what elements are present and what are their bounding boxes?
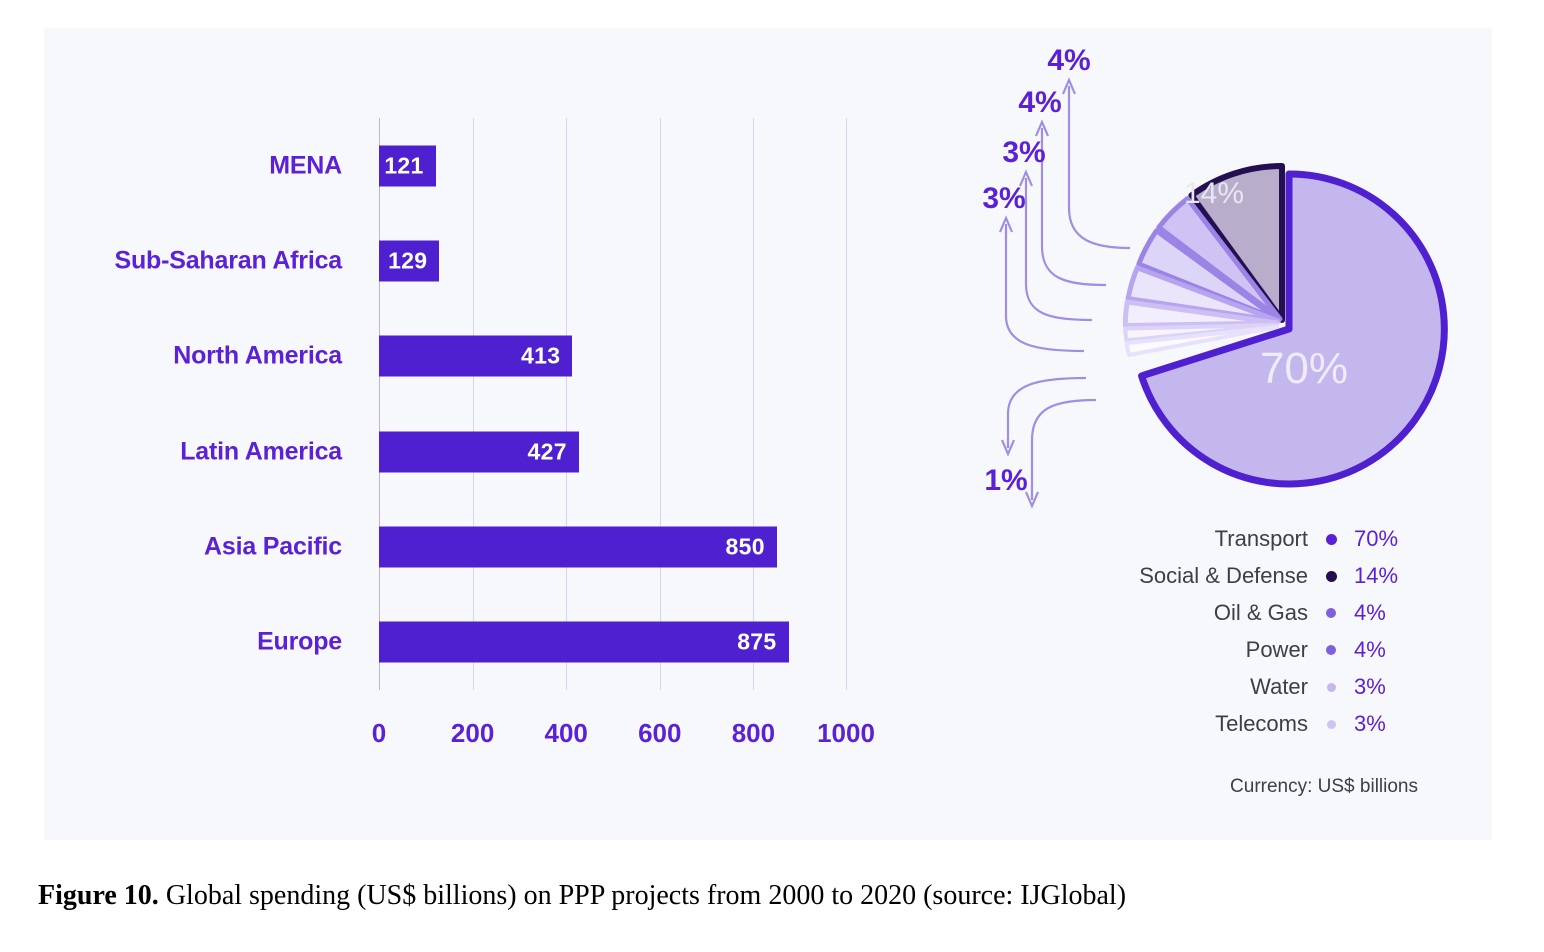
legend-percent: 70% — [1354, 526, 1418, 552]
pie-callout-label-1: 4% — [1047, 48, 1090, 77]
leader-line-4 — [1006, 224, 1084, 351]
bar-value-label: 129 — [388, 247, 439, 274]
bar-latin-america[interactable]: 427 — [379, 431, 579, 472]
legend-row-transport[interactable]: Transport 70% — [944, 526, 1418, 552]
bar-row: MENA 121 — [379, 118, 847, 213]
legend-row-water[interactable]: Water 3% — [944, 674, 1418, 700]
legend-swatch-cell — [1308, 720, 1354, 729]
figure-caption-label: Figure 10. — [38, 880, 159, 911]
bar-value-label: 875 — [737, 629, 788, 656]
legend-percent: 3% — [1354, 711, 1418, 737]
bar-mena[interactable]: 121 — [379, 145, 436, 186]
legend-dot-icon — [1326, 645, 1336, 655]
pie-chart: 70% 14% — [944, 28, 1492, 840]
legend-dot-icon — [1326, 571, 1337, 582]
legend-dot-icon — [1326, 534, 1337, 545]
pie-svg: 70% 14% — [944, 48, 1492, 518]
bar-row: North America 413 — [379, 309, 847, 404]
bar-row: Asia Pacific 850 — [379, 499, 847, 594]
x-tick-400: 400 — [544, 718, 587, 749]
figure-panel: MENA 121 Sub-Saharan Africa 129 North Am… — [44, 28, 1492, 840]
figure-caption-text: Global spending (US$ billions) on PPP pr… — [159, 880, 1126, 911]
bar-category-label: North America — [173, 342, 342, 371]
legend-swatch-cell — [1308, 534, 1354, 545]
x-tick-0: 0 — [372, 718, 386, 749]
bar-value-label: 121 — [384, 152, 435, 179]
legend-dot-icon — [1327, 720, 1336, 729]
x-tick-600: 600 — [638, 718, 681, 749]
legend-swatch-cell — [1308, 608, 1354, 618]
bar-sub-saharan-africa[interactable]: 129 — [379, 240, 439, 281]
pie-inside-label-14: 14% — [1184, 177, 1244, 210]
legend-row-social-defense[interactable]: Social & Defense 14% — [944, 563, 1418, 589]
legend-percent: 14% — [1354, 563, 1418, 589]
legend-row-oil-gas[interactable]: Oil & Gas 4% — [944, 600, 1418, 626]
legend-dot-icon — [1326, 608, 1336, 618]
legend-swatch-cell — [1308, 571, 1354, 582]
bar-category-label: Asia Pacific — [204, 532, 342, 561]
bar-row: Latin America 427 — [379, 404, 847, 499]
legend-percent: 3% — [1354, 674, 1418, 700]
legend-label: Social & Defense — [1139, 563, 1308, 589]
figure-caption: Figure 10. Global spending (US$ billions… — [38, 880, 1126, 912]
legend-swatch-cell — [1308, 645, 1354, 655]
pie-callout-label-6: 1% — [1010, 516, 1053, 518]
bar-asia-pacific[interactable]: 850 — [379, 526, 777, 567]
bar-category-label: Europe — [257, 628, 342, 657]
legend-percent: 4% — [1354, 637, 1418, 663]
pie-graphic: 70% 14% — [944, 48, 1492, 518]
legend-row-telecoms[interactable]: Telecoms 3% — [944, 711, 1418, 737]
pie-inside-label-70: 70% — [1260, 344, 1348, 393]
legend-label: Transport — [1215, 526, 1308, 552]
pie-callout-label-4: 3% — [982, 182, 1025, 215]
bar-category-label: Latin America — [180, 437, 342, 466]
legend-label: Oil & Gas — [1214, 600, 1308, 626]
leader-line-5 — [1008, 378, 1086, 448]
bar-row: Sub-Saharan Africa 129 — [379, 213, 847, 308]
x-tick-200: 200 — [451, 718, 494, 749]
pie-legend: Transport 70% Social & Defense 14% Oil &… — [944, 526, 1418, 737]
legend-row-power[interactable]: Power 4% — [944, 637, 1418, 663]
bar-value-label: 427 — [528, 438, 579, 465]
legend-label: Telecoms — [1215, 711, 1308, 737]
leader-line-1 — [1069, 86, 1130, 248]
bar-category-label: Sub-Saharan Africa — [115, 246, 342, 275]
leader-line-6 — [1032, 400, 1096, 500]
legend-percent: 4% — [1354, 600, 1418, 626]
bar-value-label: 850 — [726, 533, 777, 560]
pie-callout-label-3: 3% — [1002, 136, 1045, 169]
bar-value-label: 413 — [521, 343, 572, 370]
x-tick-1000: 1000 — [817, 718, 875, 749]
currency-note: Currency: US$ billions — [944, 776, 1418, 798]
pie-callout-label-5: 1% — [984, 464, 1027, 497]
x-tick-800: 800 — [732, 718, 775, 749]
bar-europe[interactable]: 875 — [379, 622, 789, 663]
legend-swatch-cell — [1308, 683, 1354, 692]
legend-label: Power — [1246, 637, 1308, 663]
legend-label: Water — [1250, 674, 1308, 700]
bar-chart: MENA 121 Sub-Saharan Africa 129 North Am… — [44, 28, 944, 840]
leader-line-2 — [1042, 128, 1106, 285]
bar-row: Europe 875 — [379, 595, 847, 690]
bar-category-label: MENA — [269, 151, 342, 180]
legend-dot-icon — [1327, 683, 1336, 692]
pie-callout-label-2: 4% — [1018, 86, 1061, 119]
leader-line-3 — [1026, 178, 1092, 320]
x-axis-tick-labels: 0 200 400 600 800 1000 — [379, 718, 847, 758]
bar-plot-area: MENA 121 Sub-Saharan Africa 129 North Am… — [379, 118, 847, 690]
bar-north-america[interactable]: 413 — [379, 336, 572, 377]
